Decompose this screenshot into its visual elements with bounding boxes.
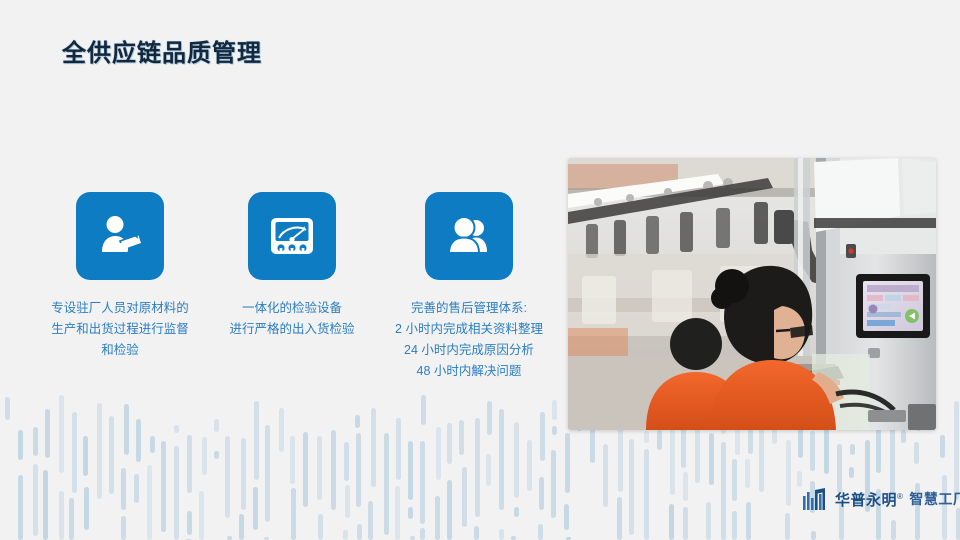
decorative-bar xyxy=(18,475,23,540)
decorative-bar xyxy=(837,444,842,493)
decorative-bar xyxy=(709,433,714,485)
decorative-bar xyxy=(408,441,413,500)
brand-name: 华普永明® xyxy=(835,489,903,510)
decorative-bar xyxy=(5,397,10,420)
decorative-bar xyxy=(669,504,674,540)
decorative-bar xyxy=(318,514,323,540)
feature-item-after-sales: 完善的售后管理体系: 2 小时内完成相关资料整理 24 小时内完成原因分析 48… xyxy=(376,192,562,382)
decorative-bar xyxy=(514,422,519,498)
decorative-bar xyxy=(187,435,192,493)
decorative-bar xyxy=(124,404,129,455)
decorative-bar xyxy=(785,513,790,540)
feature-item-label: 专设驻厂人员对原材料的 生产和出货过程进行监督 和检验 xyxy=(32,298,208,361)
decorative-bar xyxy=(514,507,519,517)
decorative-bar xyxy=(487,401,492,435)
decorative-bar xyxy=(199,491,204,540)
decorative-bar xyxy=(174,425,179,433)
factory-production-line-photo xyxy=(568,158,936,430)
decorative-bar xyxy=(225,436,230,518)
decorative-bar xyxy=(797,471,802,487)
decorative-bar xyxy=(603,444,608,507)
decorative-bar xyxy=(745,459,750,488)
decorative-bar xyxy=(291,488,296,540)
decorative-bar xyxy=(331,430,336,510)
brand-name-text: 华普永明 xyxy=(835,492,897,509)
decorative-bar xyxy=(786,440,791,506)
decorative-bar xyxy=(174,446,179,540)
decorative-bar xyxy=(121,516,126,540)
decorative-bar xyxy=(811,531,816,540)
decorative-bar xyxy=(187,511,192,535)
decorative-bar xyxy=(121,468,126,510)
decorative-bar xyxy=(474,526,479,540)
decorative-bar xyxy=(657,430,662,450)
decorative-bar xyxy=(136,419,141,462)
decorative-bar xyxy=(84,487,89,530)
decorative-bar xyxy=(279,408,284,452)
decorative-bar xyxy=(214,419,219,432)
decorative-bar xyxy=(345,485,350,518)
decorative-bar xyxy=(499,529,504,540)
slide-root: 全供应链品质管理 专设驻厂人员对原材料的 生产和出货过程进行监督 和检验 xyxy=(0,0,960,540)
decorative-bar xyxy=(459,420,464,455)
two-people-icon xyxy=(425,192,513,280)
decorative-bar xyxy=(683,472,688,501)
gauge-meter-icon xyxy=(248,192,336,280)
decorative-bar xyxy=(421,395,426,425)
decorative-bar xyxy=(901,430,906,443)
decorative-bar xyxy=(486,454,491,486)
decorative-bar xyxy=(732,511,737,540)
decorative-bar xyxy=(683,507,688,540)
decorative-bar xyxy=(371,408,376,487)
decorative-bar xyxy=(33,427,38,456)
decorative-bar xyxy=(343,530,348,540)
decorative-bar xyxy=(706,502,711,540)
decorative-bar xyxy=(629,439,634,535)
decorative-bar xyxy=(33,464,38,536)
decorative-bar xyxy=(527,440,532,491)
decorative-bar xyxy=(436,427,441,480)
decorative-bar xyxy=(344,442,349,481)
decorative-bar xyxy=(355,415,360,428)
decorative-bar xyxy=(227,536,232,540)
decorative-bar xyxy=(83,436,88,476)
decorative-bar xyxy=(735,428,740,455)
decorative-bar xyxy=(202,437,207,475)
decorative-bar xyxy=(265,425,270,522)
decorative-bar xyxy=(617,497,622,540)
decorative-bar xyxy=(849,467,854,478)
decorative-bar xyxy=(475,418,480,517)
decorative-bar xyxy=(564,504,569,530)
decorative-bar xyxy=(447,423,452,464)
decorative-bar xyxy=(109,416,114,494)
decorative-bar xyxy=(540,412,545,461)
decorative-bar xyxy=(147,465,152,540)
decorative-bar xyxy=(408,507,413,519)
decorative-bar xyxy=(59,395,64,473)
decorative-bar xyxy=(18,430,23,460)
decorative-bar xyxy=(253,487,258,530)
decorative-bar xyxy=(97,403,102,499)
decorative-bar xyxy=(254,401,259,480)
brand-logo: 华普永明® 智慧工厂 xyxy=(803,488,960,510)
trademark-symbol: ® xyxy=(897,492,903,501)
decorative-bar xyxy=(914,442,919,464)
decorative-bar xyxy=(69,498,74,540)
decorative-bar xyxy=(161,441,166,532)
decorative-bar xyxy=(384,433,389,535)
decorative-bar xyxy=(891,520,896,540)
decorative-bar xyxy=(357,524,362,540)
decorative-bar xyxy=(956,508,960,540)
decorative-bar xyxy=(150,436,155,453)
decorative-bar xyxy=(565,433,570,493)
decorative-bar xyxy=(810,431,815,471)
decorative-bar xyxy=(410,536,415,540)
decorative-bar xyxy=(552,426,557,435)
decorative-bar xyxy=(59,491,64,540)
decorative-bar xyxy=(954,401,959,500)
decorative-bar xyxy=(551,450,556,518)
decorative-bar xyxy=(746,502,751,540)
decorative-bar xyxy=(303,432,308,507)
decorative-bar xyxy=(317,436,322,500)
decorative-bar xyxy=(396,418,401,480)
decorative-bar xyxy=(214,451,219,459)
decorative-bar xyxy=(420,441,425,524)
feature-item-label: 一体化的检验设备 进行严格的出入货检验 xyxy=(204,298,380,340)
feature-item-label: 完善的售后管理体系: 2 小时内完成相关资料整理 24 小时内完成原因分析 48… xyxy=(376,298,562,382)
decorative-bar xyxy=(538,524,543,540)
decorative-bar xyxy=(134,474,139,503)
decorative-bar xyxy=(499,409,504,510)
decorative-bar xyxy=(552,400,557,420)
decorative-bar xyxy=(850,444,855,455)
feature-item-testing-equipment: 一体化的检验设备 进行严格的出入货检验 xyxy=(204,192,380,340)
decorative-bar xyxy=(644,431,649,443)
decorative-bar xyxy=(447,480,452,540)
decorative-bar xyxy=(435,496,440,540)
brand-sub-name: 智慧工厂 xyxy=(909,489,960,509)
person-with-clipboard-icon xyxy=(76,192,164,280)
page-title: 全供应链品质管理 xyxy=(62,33,262,68)
decorative-bar xyxy=(241,438,246,510)
huapu-bars-logo-mark xyxy=(803,488,829,510)
decorative-bar xyxy=(721,442,726,540)
decorative-bar xyxy=(511,536,516,540)
decorative-bar xyxy=(759,426,764,492)
decorative-bar xyxy=(290,436,295,484)
decorative-bar xyxy=(420,528,425,540)
decorative-bar xyxy=(395,486,400,540)
decorative-bar xyxy=(462,467,467,527)
decorative-bar xyxy=(732,459,737,501)
decorative-bar xyxy=(539,477,544,510)
decorative-bar xyxy=(356,433,361,507)
feature-item-inspection: 专设驻厂人员对原材料的 生产和出货过程进行监督 和检验 xyxy=(32,192,208,361)
decorative-bar xyxy=(644,449,649,540)
decorative-bar xyxy=(368,501,373,540)
decorative-bar xyxy=(239,514,244,540)
decorative-bar xyxy=(45,409,50,458)
decorative-bar xyxy=(72,412,77,493)
decorative-bar xyxy=(940,435,945,458)
decorative-bar xyxy=(43,470,48,540)
